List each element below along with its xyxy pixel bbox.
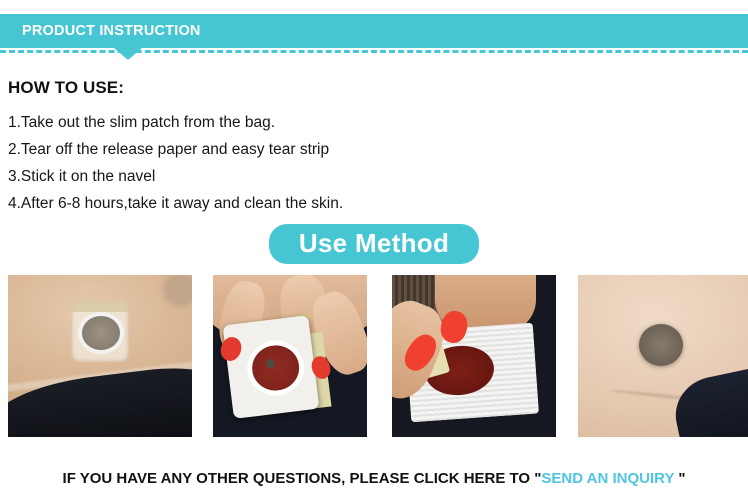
triangle-pointer-icon (114, 48, 142, 60)
photo-patch-on-navel (578, 275, 748, 437)
how-to-use-step: 2.Tear off the release paper and easy te… (8, 136, 608, 163)
photo-patch-on-abdomen (8, 275, 192, 437)
how-to-use-step: 1.Take out the slim patch from the bag. (8, 109, 608, 136)
how-to-use-step: 3.Stick it on the navel (8, 163, 608, 190)
photo-peeling-release-paper (392, 275, 556, 437)
use-method-photo-strip (0, 275, 748, 437)
use-method-badge-row: Use Method (0, 224, 748, 264)
inquiry-quote-close: " (674, 470, 685, 487)
product-instruction-page: PRODUCT INSTRUCTION HOW TO USE: 1.Take o… (0, 0, 748, 504)
how-to-use-title: HOW TO USE: (8, 78, 608, 98)
inquiry-text-before: IF YOU HAVE ANY OTHER QUESTIONS, PLEASE … (63, 470, 535, 487)
send-an-inquiry-link[interactable]: SEND AN INQUIRY (541, 470, 674, 487)
use-method-badge: Use Method (269, 224, 479, 264)
dashed-line (0, 50, 748, 53)
product-instruction-header: PRODUCT INSTRUCTION (0, 14, 748, 48)
header-dashed-divider (0, 48, 748, 58)
how-to-use-step: 4.After 6-8 hours,take it away and clean… (8, 190, 608, 217)
inquiry-line: IF YOU HAVE ANY OTHER QUESTIONS, PLEASE … (0, 470, 748, 487)
how-to-use-section: HOW TO USE: 1.Take out the slim patch fr… (8, 78, 608, 217)
photo-hands-holding-patch (213, 275, 367, 437)
header-title: PRODUCT INSTRUCTION (22, 23, 201, 39)
